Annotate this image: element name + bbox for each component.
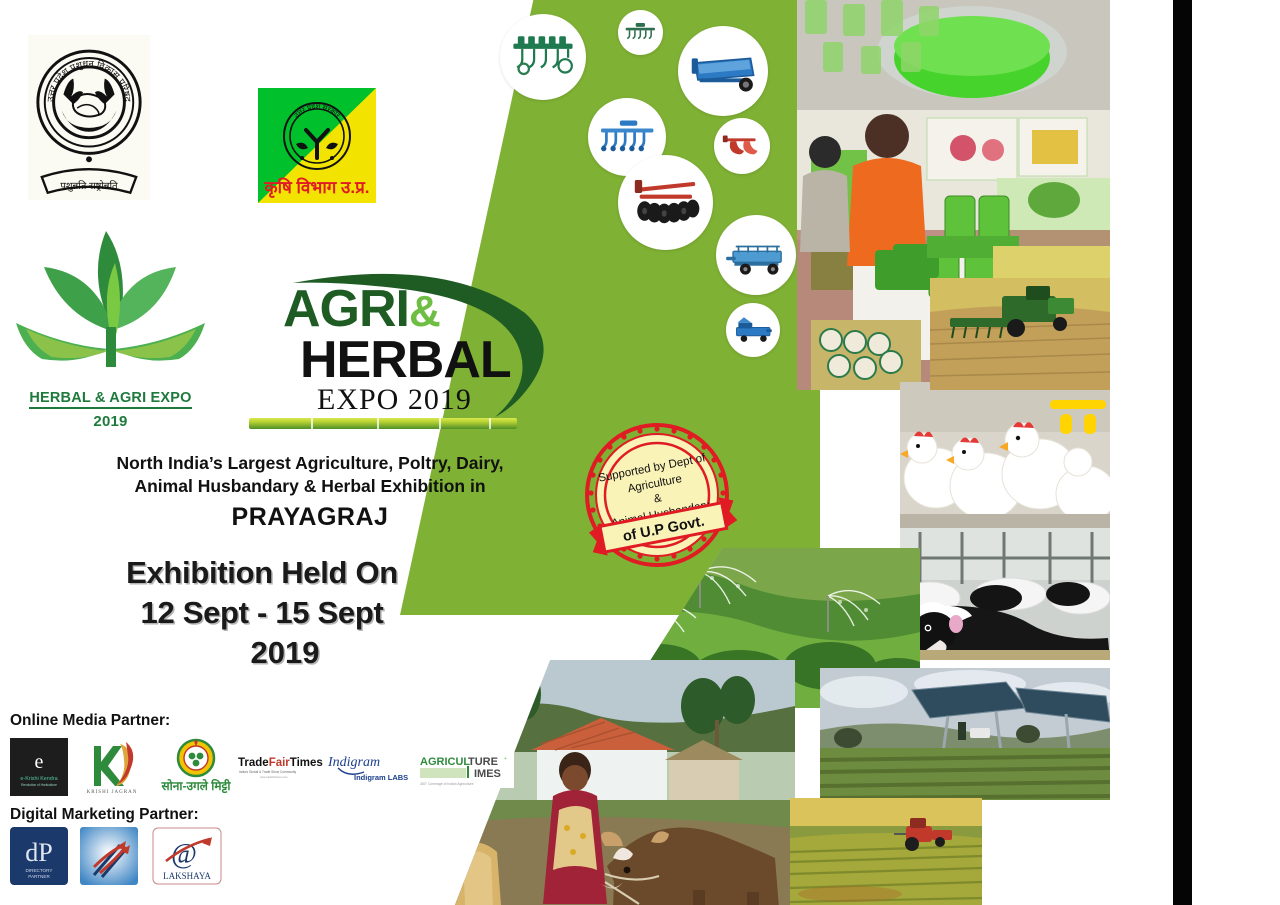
poultry-farm-photo	[900, 382, 1110, 530]
svg-text:dP: dP	[25, 838, 52, 867]
directory-partner-logo: dP DIRECTORY PARTNER	[10, 827, 68, 885]
leaf-logo-caption-text: HERBAL & AGRI EXPO	[29, 390, 191, 409]
trade-fair-times-logo: TradeFairTimes India's Global & Trade Sh…	[236, 752, 328, 786]
agriculture-times-logo: AGRICUL TURE + IMES 360° Coverage of Ind…	[418, 752, 514, 788]
leaf-logo-caption: HERBAL & AGRI EXPO 2019	[8, 390, 213, 430]
right-black-bar	[1173, 0, 1192, 905]
svg-text:TradeFairTimes: TradeFairTimes	[238, 757, 323, 769]
thresher-icon	[726, 303, 780, 357]
bamboo-bar-icon	[249, 418, 517, 429]
svg-text:सोना-उगले मिट्टी: सोना-उगले मिट्टी	[160, 779, 231, 794]
rotavator-icon	[618, 10, 663, 55]
exhibition-date-range: 12 Sept - 15 Sept	[62, 595, 462, 631]
headline-line1: North India’s Largest Agriculture, Poltr…	[60, 452, 560, 475]
wordmark-herbal: HERBAL	[300, 330, 511, 390]
svg-text:कृषि विभाग उ.प्र.: कृषि विभाग उ.प्र.	[264, 177, 370, 198]
svg-text:PARTNER: PARTNER	[28, 874, 50, 879]
dates-block: Exhibition Held On 12 Sept - 15 Sept 201…	[62, 555, 462, 671]
svg-text:e-Krishi Kendra: e-Krishi Kendra	[20, 776, 57, 782]
headline-line2: Animal Husbandary & Herbal Exhibition in	[60, 475, 560, 498]
e-krishi-kendra-logo: e e-Krishi Kendra Revolution of Horticul…	[10, 738, 68, 796]
sona-ugle-mitti-logo: सोना-उगले मिट्टी	[150, 738, 242, 796]
svg-text:उत्तर प्रदेश पशुधन विकास परिषद: उत्तर प्रदेश पशुधन विकास परिषद	[46, 58, 133, 102]
svg-text:KRISHI JAGRAN: KRISHI JAGRAN	[87, 790, 138, 795]
svg-text:e: e	[35, 751, 44, 773]
svg-text:India's Global & Trade Show Co: India's Global & Trade Show Community	[239, 770, 297, 774]
svg-text:DIRECTORY: DIRECTORY	[26, 868, 53, 873]
land-leveler-icon	[678, 26, 768, 116]
arrow-growth-logo	[80, 827, 138, 885]
mb-plough-icon	[714, 118, 770, 174]
dairy-cattle-photo	[900, 528, 1110, 660]
exhibition-year: 2019	[108, 635, 462, 671]
digital-marketing-partner-label: Digital Marketing Partner:	[10, 806, 199, 824]
indigram-labs-logo: Indigram Indigram LABS	[326, 750, 410, 788]
up-pashudhan-vikas-parishad-logo: उत्तर प्रदेश पशुधन विकास परिषद पशुन्नति …	[28, 35, 150, 200]
headline-block: North India’s Largest Agriculture, Poltr…	[60, 452, 560, 532]
svg-text:पशुन्नति राष्ट्रोन्नति: पशुन्नति राष्ट्रोन्नति	[60, 179, 118, 191]
svg-text:www.tradefairtimes.com: www.tradefairtimes.com	[260, 775, 288, 779]
svg-text:TURE: TURE	[468, 756, 498, 768]
svg-text:AGRICUL: AGRICUL	[420, 756, 470, 768]
wordmark-expo-year: EXPO 2019	[317, 383, 472, 417]
headline-city: PRAYAGRAJ	[60, 503, 560, 532]
svg-text:LAKSHAYA: LAKSHAYA	[163, 871, 211, 881]
seed-drill-icon	[500, 14, 586, 100]
svg-text:Indigram: Indigram	[327, 755, 380, 770]
govt-support-seal: Supported by Dept of Agriculture & Anima…	[575, 415, 740, 580]
online-media-partner-label: Online Media Partner:	[10, 712, 170, 730]
exhibition-held-on-label: Exhibition Held On	[62, 555, 462, 591]
svg-text:IMES: IMES	[474, 768, 501, 780]
svg-text:Revolution of Horticulture: Revolution of Horticulture	[21, 783, 57, 787]
poster-canvas: उत्तर प्रदेश पशुधन विकास परिषद पशुन्नति …	[0, 0, 1280, 905]
disc-harrow-icon	[618, 155, 713, 250]
leaf-logo-year: 2019	[8, 413, 213, 430]
agri-herbal-wordmark: AGRI& HERBAL EXPO 2019	[245, 255, 545, 430]
solar-pump-photo	[820, 668, 1110, 800]
svg-text:Indigram LABS: Indigram LABS	[354, 773, 408, 782]
right-white-gutter	[1110, 0, 1280, 905]
krishi-jagran-logo: KRISHI JAGRAN	[82, 736, 142, 796]
svg-text:360° Coverage of Indian Agricu: 360° Coverage of Indian Agriculture	[420, 782, 474, 786]
krishi-vibhag-up-logo: उत्तर प्रदेश सरकार कृषि विभाग उ.प्र.	[258, 88, 376, 203]
harvester-photo	[930, 278, 1110, 390]
tractor-trailer-icon	[716, 215, 796, 295]
svg-text:+: +	[504, 756, 507, 762]
lakshaya-logo: @ LAKSHAYA	[152, 827, 222, 885]
tractor-spraying-photo	[790, 798, 982, 905]
wordmark-ampersand: &	[409, 287, 440, 336]
